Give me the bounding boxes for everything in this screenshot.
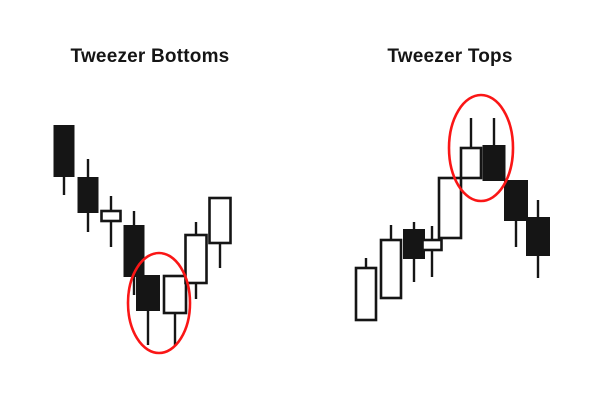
panel-title-tweezer-bottoms: Tweezer Bottoms <box>71 46 230 67</box>
candle-body-bullish <box>102 211 121 221</box>
candle-body-bullish <box>356 268 376 320</box>
candlestick <box>356 258 376 320</box>
candle-body-bullish <box>439 178 461 238</box>
candle-body-bearish <box>404 230 424 258</box>
candlestick <box>439 178 461 238</box>
candle-body-bullish <box>381 240 401 298</box>
candle-body-bearish <box>137 276 159 310</box>
candle-body-bearish <box>79 178 98 212</box>
candle-body-bearish <box>125 226 144 276</box>
candle-body-bullish <box>164 276 186 313</box>
candlestick-pattern-figure: Tweezer Bottoms Tweezer Tops <box>0 0 600 400</box>
candle-body-bearish <box>55 126 74 176</box>
candle-body-bullish <box>461 148 481 178</box>
panel-title-tweezer-tops: Tweezer Tops <box>387 46 512 67</box>
candle-body-bearish <box>527 218 549 255</box>
candle-body-bullish <box>186 235 207 283</box>
candle-body-bearish <box>484 146 505 180</box>
candle-body-bullish <box>423 240 442 250</box>
candle-body-bullish <box>210 198 231 243</box>
candle-body-bearish <box>505 181 527 220</box>
